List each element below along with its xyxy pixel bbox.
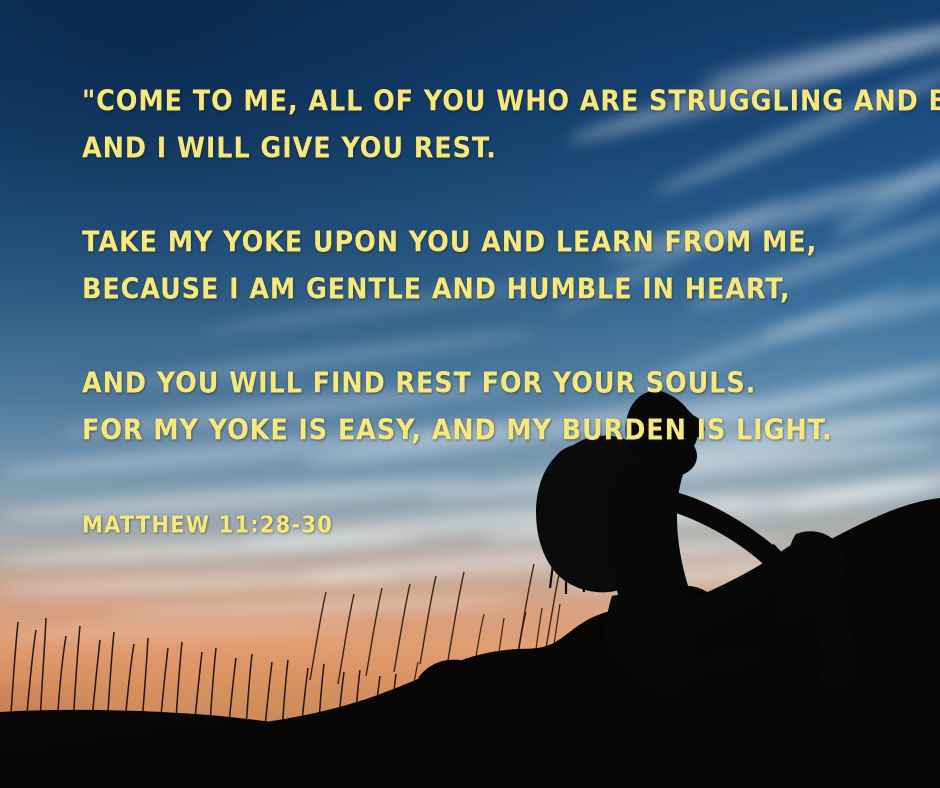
verse-line-3: TAKE MY YOKE UPON YOU AND LEARN FROM ME, [82, 217, 882, 270]
verse-spacer-1 [82, 170, 882, 223]
verse-line-2: AND I WILL GIVE YOU REST. [82, 123, 882, 176]
verse-line-6: FOR MY YOKE IS EASY, AND MY BURDEN IS LI… [82, 405, 882, 458]
verse-spacer-2 [82, 311, 882, 364]
verse-reference: MATTHEW 11:28-30 [82, 499, 882, 552]
verse-text-block: "COME TO ME, ALL OF YOU WHO ARE STRUGGLI… [82, 76, 882, 546]
verse-line-5: AND YOU WILL FIND REST FOR YOUR SOULS. [82, 358, 882, 411]
verse-line-4: BECAUSE I AM GENTLE AND HUMBLE IN HEART, [82, 264, 882, 317]
scripture-image: "COME TO ME, ALL OF YOU WHO ARE STRUGGLI… [0, 0, 940, 788]
verse-line-1: "COME TO ME, ALL OF YOU WHO ARE STRUGGLI… [82, 76, 882, 129]
verse-spacer-3 [82, 452, 882, 505]
